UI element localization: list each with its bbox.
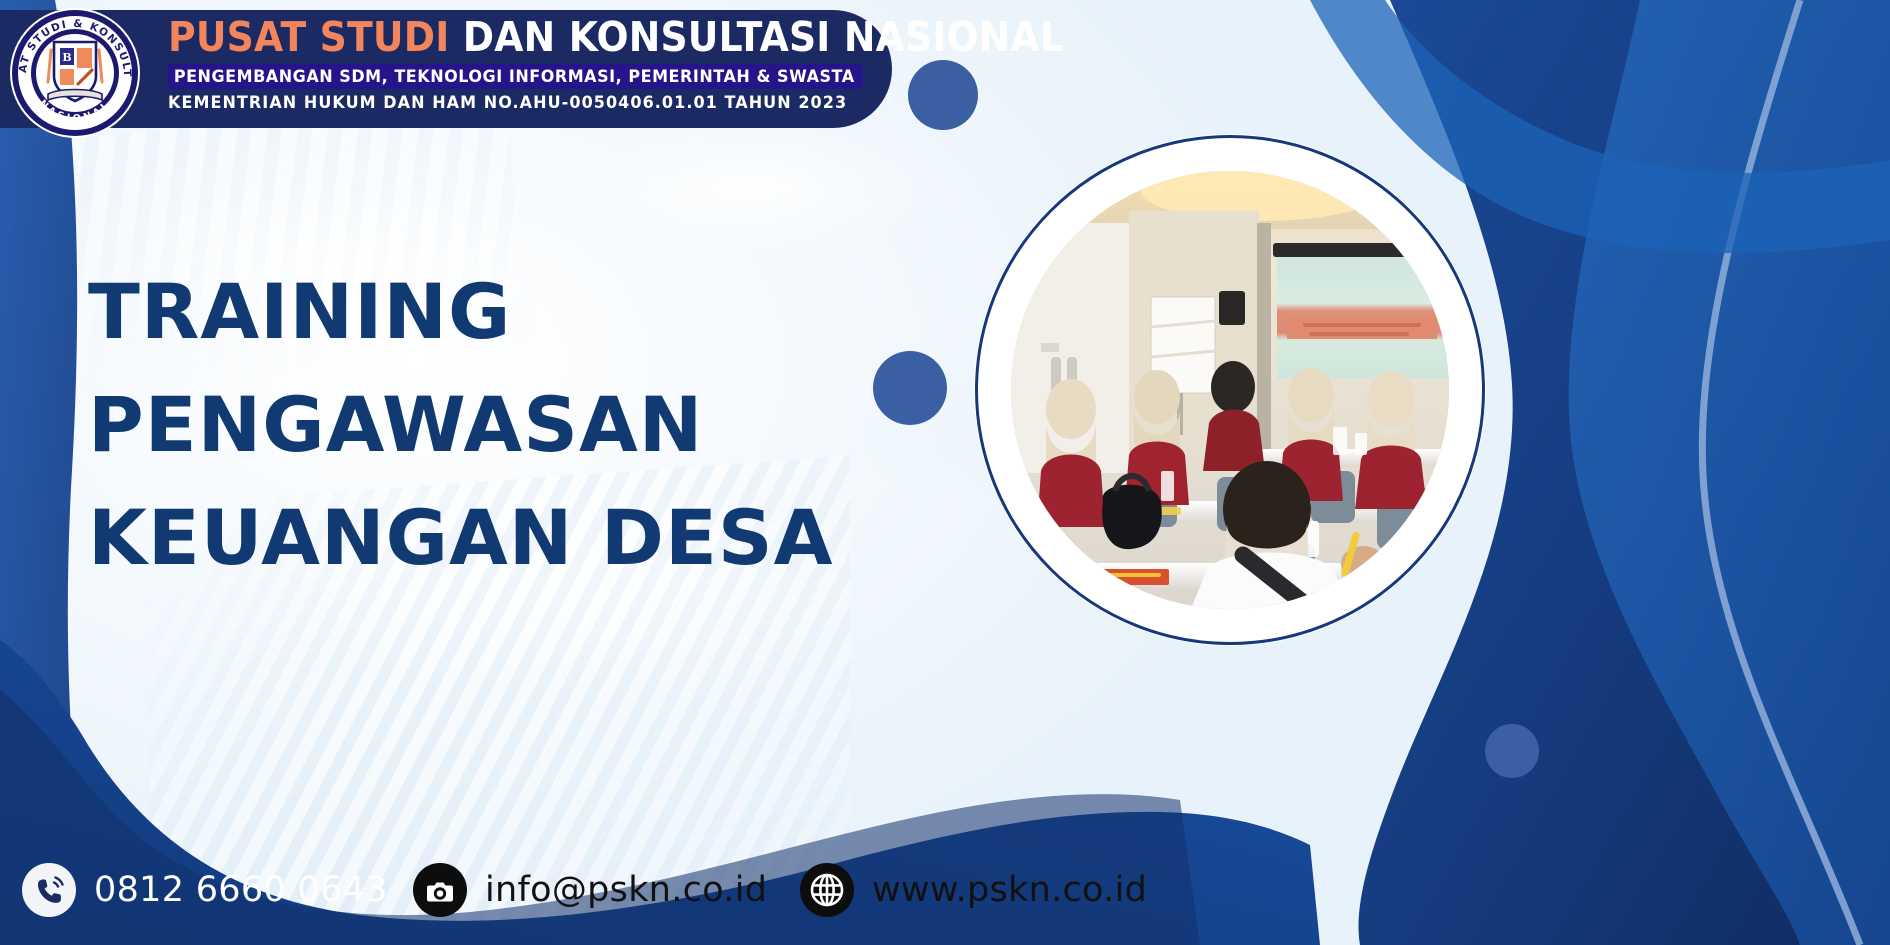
globe-icon (800, 863, 854, 917)
camera-icon (413, 863, 467, 917)
org-legal-registration: KEMENTRIAN HUKUM DAN HAM NO.AHU-0050406.… (168, 93, 847, 112)
org-name-line: PUSAT STUDI DAN KONSULTASI NASIONAL (168, 14, 812, 60)
page-title: TRAINING PENGAWASAN KEUANGAN DESA (88, 255, 988, 594)
org-name-highlight: PUSAT STUDI (168, 13, 449, 61)
org-tagline: PENGEMBANGAN SDM, TEKNOLOGI INFORMASI, P… (168, 64, 862, 89)
phone-number: 0812 6660 0643 (94, 870, 388, 910)
banner-canvas: PUSAT STUDI & KONSULTASI NASIONAL B (0, 0, 1890, 945)
footer-contact-bar: 0812 6660 0643 info@pskn.co.id www.pskn.… (0, 825, 1890, 945)
photo-image (1011, 171, 1449, 609)
header-text-block: PUSAT STUDI DAN KONSULTASI NASIONAL PENG… (168, 14, 868, 114)
title-line-2: PENGAWASAN (88, 368, 988, 481)
seal-shield-icon: B (48, 42, 102, 101)
decor-dot (908, 60, 978, 130)
phone-icon (22, 863, 76, 917)
org-name-rest: DAN KONSULTASI NASIONAL (463, 13, 1064, 61)
decor-dot (1485, 724, 1539, 778)
contact-email[interactable]: info@pskn.co.id (413, 863, 767, 917)
contact-website[interactable]: www.pskn.co.id (800, 863, 1147, 917)
organization-seal-logo: PUSAT STUDI & KONSULTASI NASIONAL B (8, 6, 142, 140)
email-address: info@pskn.co.id (485, 870, 767, 910)
title-line-1: TRAINING (88, 255, 988, 368)
seal-monogram: B (62, 51, 71, 64)
contact-phone[interactable]: 0812 6660 0643 (22, 863, 388, 917)
title-line-3: KEUANGAN DESA (88, 481, 988, 594)
training-photo (975, 135, 1485, 645)
website-url: www.pskn.co.id (872, 870, 1147, 910)
